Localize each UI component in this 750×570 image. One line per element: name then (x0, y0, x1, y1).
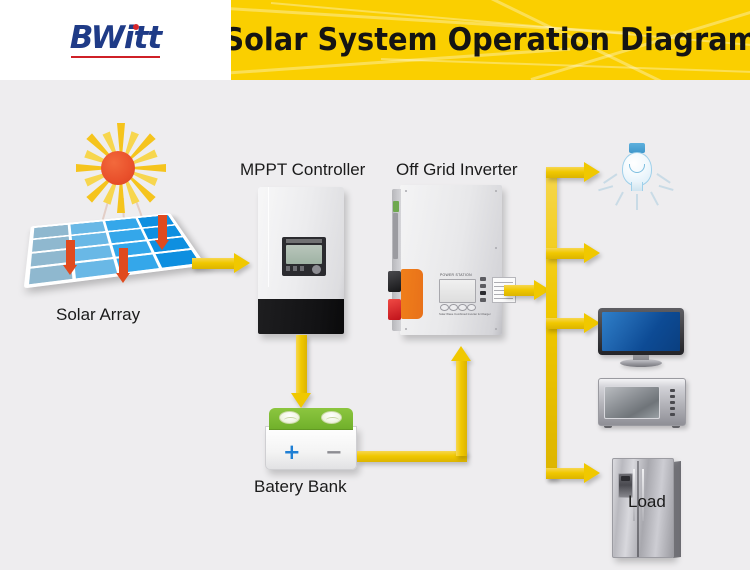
brand-logo-text: BWitt (70, 23, 161, 54)
mppt-controller-label: MPPT Controller (240, 160, 365, 180)
inverter-status-icons (478, 277, 489, 303)
inverter-panel-title: POWER STATION (440, 273, 472, 277)
solar-array-label: Solar Array (56, 305, 140, 325)
battery-icon: + − (265, 408, 357, 470)
flow-arrow-bus-to-refrigerator (546, 468, 584, 479)
sunlight-arrow-icon (158, 215, 167, 241)
sun-core (101, 151, 135, 185)
inverter-buttons[interactable] (440, 304, 474, 310)
solar-panel-icon (30, 198, 205, 308)
mppt-controller-icon (258, 187, 344, 334)
inverter-negative-terminal (388, 271, 401, 292)
light-bulb-icon (600, 140, 672, 212)
flow-arrow-bus-to-tv (546, 248, 584, 259)
flow-arrow-panel-to-mppt (192, 258, 234, 269)
battery-bank-label: Batery Bank (254, 477, 347, 497)
sunlight-arrow-icon (119, 248, 128, 274)
title-banner: Solar System Operation Diagram (231, 0, 750, 80)
diagram-canvas: Solar Array MPPT Controller (0, 80, 750, 570)
sunlight-arrow-icon (66, 240, 75, 266)
flow-arrow-inverter-to-bus (504, 285, 534, 296)
flow-line-battery-to-inverter (357, 451, 467, 462)
flow-arrow-bus-to-microwave (546, 318, 584, 329)
inverter-icon: POWER STATION Solar Wave Com (392, 185, 502, 335)
microwave-icon (598, 378, 686, 430)
page-header: BWitt Solar System Operation Diagram (0, 0, 750, 80)
flow-arrow-bus-to-bulb (546, 167, 584, 178)
off-grid-inverter-label: Off Grid Inverter (396, 160, 518, 180)
flow-arrow-battery-to-inverter (456, 361, 467, 456)
mppt-display (282, 237, 326, 276)
battery-positive-terminal: + (283, 442, 301, 463)
battery-negative-terminal: − (325, 442, 343, 463)
load-label: Load (628, 492, 666, 512)
inverter-terminal-cover (401, 269, 423, 319)
inverter-positive-terminal (388, 299, 401, 320)
tv-icon (598, 308, 684, 368)
brand-logo: BWitt (0, 0, 231, 80)
inverter-display (439, 279, 476, 303)
battery-cap (279, 411, 300, 424)
battery-cap (321, 411, 342, 424)
flow-arrow-mppt-to-battery (296, 335, 307, 393)
inverter-footer-text: Solar Wave Combined Inverter & Charger (439, 312, 491, 316)
logo-underline (71, 56, 160, 58)
page-title: Solar System Operation Diagram (249, 0, 732, 80)
logo-dot-icon (133, 24, 139, 30)
